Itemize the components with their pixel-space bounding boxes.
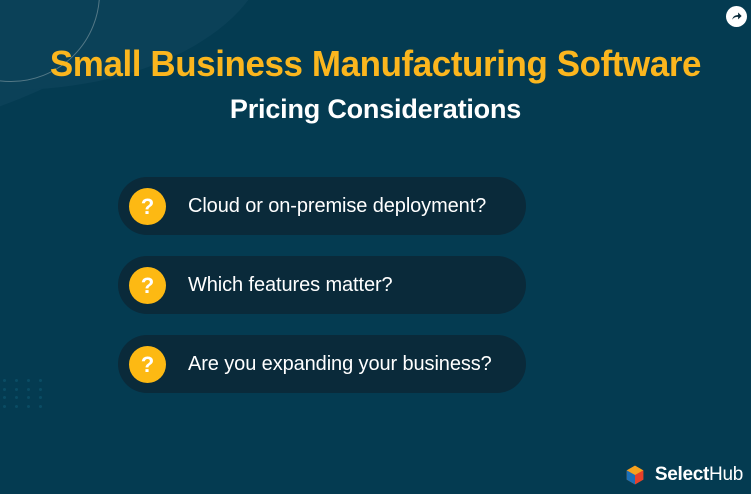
dot [15,388,18,391]
share-arrow-icon [730,10,743,23]
dot [39,396,42,399]
dot [27,396,30,399]
question-mark-icon: ? [129,188,166,225]
question-mark-icon: ? [129,267,166,304]
logo-word-select: Select [655,464,709,485]
dot [15,405,18,408]
question-pill[interactable]: ?Cloud or on-premise deployment? [118,177,526,235]
heading-block: Small Business Manufacturing Software Pr… [0,41,751,126]
selecthub-logo[interactable]: SelectHub [624,464,743,486]
dot-grid-decoration [3,379,43,407]
dot [3,388,6,391]
dot [27,405,30,408]
question-text: Cloud or on-premise deployment? [188,194,486,218]
dot [27,379,30,382]
question-pill[interactable]: ?Are you expanding your business? [118,335,526,393]
dot [3,379,6,382]
question-text: Which features matter? [188,273,393,297]
dot [39,388,42,391]
dot [3,405,6,408]
page-title: Small Business Manufacturing Software [11,41,739,87]
question-list: ?Cloud or on-premise deployment??Which f… [118,177,526,393]
dot [3,396,6,399]
share-button[interactable] [726,6,747,27]
logo-word-hub: Hub [709,464,743,485]
page-subtitle: Pricing Considerations [0,92,751,126]
selecthub-cube-icon [624,464,646,486]
question-pill[interactable]: ?Which features matter? [118,256,526,314]
slide-canvas: Small Business Manufacturing Software Pr… [0,0,751,494]
dot [39,405,42,408]
selecthub-wordmark: SelectHub [655,464,743,486]
dot [27,388,30,391]
question-text: Are you expanding your business? [188,352,492,376]
question-mark-icon: ? [129,346,166,383]
dot [15,396,18,399]
dot [15,379,18,382]
dot [39,379,42,382]
